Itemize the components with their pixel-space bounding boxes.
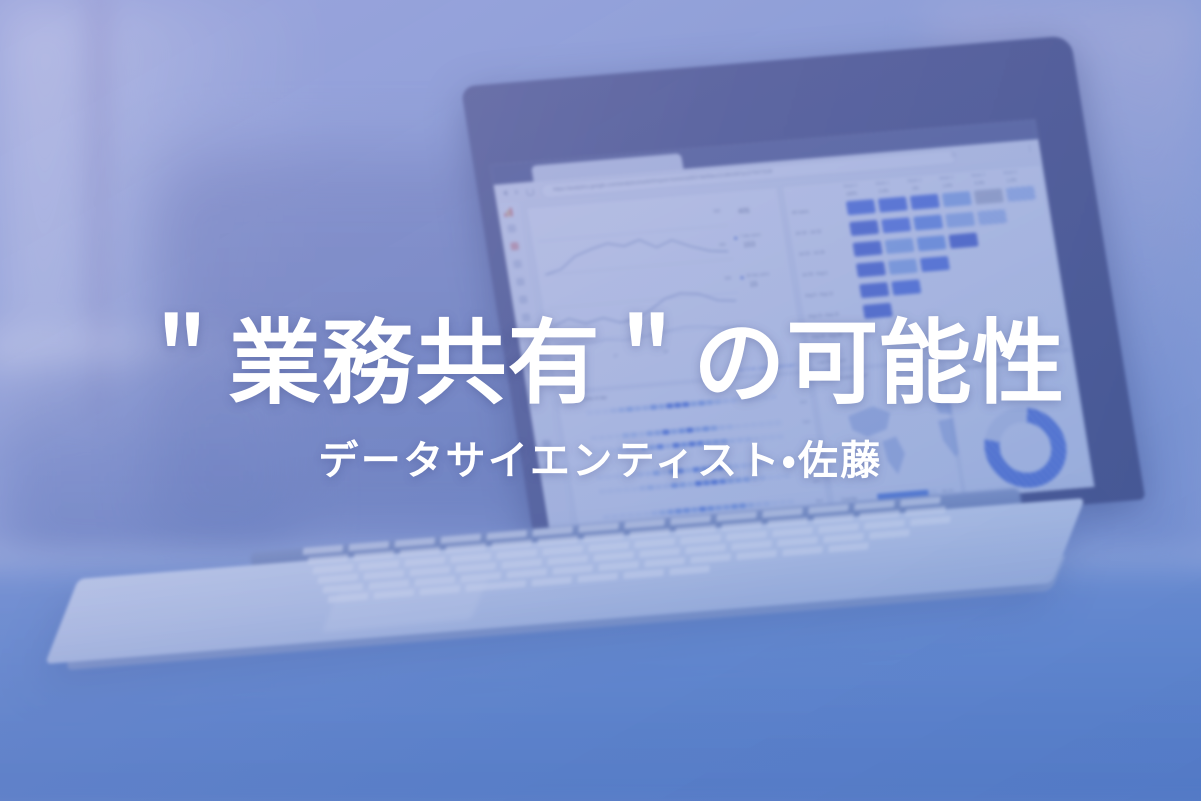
hero-banner: https://analytics.google.com/analytics/w… xyxy=(0,0,1201,801)
hero-text-block: ＂業務共有＂の可能性 データサイエンティスト・佐藤 xyxy=(0,0,1201,801)
page-title: ＂業務共有＂の可能性 xyxy=(136,318,1065,412)
page-subtitle: データサイエンティスト・佐藤 xyxy=(318,439,882,483)
